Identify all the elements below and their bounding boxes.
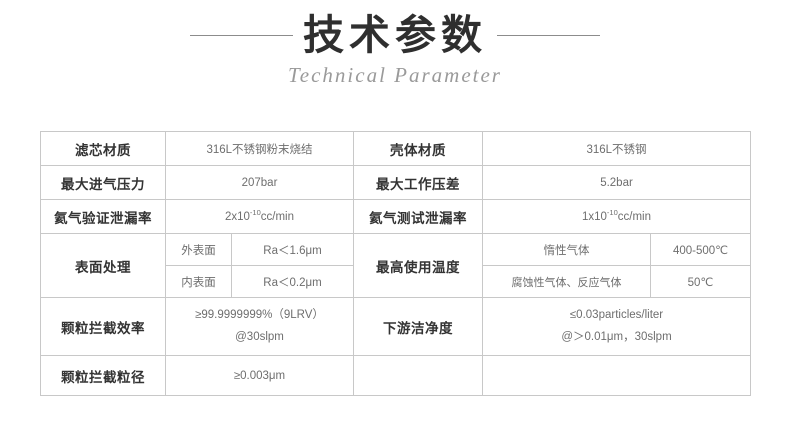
row5-value-left-line2: @30slpm [170,327,349,349]
page-subtitle: Technical Parameter [0,63,790,88]
row3-value-right-base: 1x10 [582,211,607,223]
title-rule-left [190,35,293,36]
row3-value-right-exponent: -10 [607,208,618,217]
row4-label-right: 最高使用温度 [354,234,483,298]
row4-sub-left-b-value: Ra＜0.2μm [232,266,354,298]
row3-value-left-exponent: -10 [250,208,261,217]
technical-parameter-page: 技术参数 Technical Parameter 滤芯材质 316L不锈钢粉末烧… [0,0,790,442]
row2-label-right: 最大工作压差 [354,166,483,200]
page-title: 技术参数 [293,14,497,57]
row2-value-right: 5.2bar [483,166,751,200]
row3-label-left: 氦气验证泄漏率 [41,200,166,234]
row5-label-right: 下游洁净度 [354,298,483,356]
row3-value-right-unit: cc/min [618,211,651,223]
row3-label-right: 氦气测试泄漏率 [354,200,483,234]
row5-value-right-line1: ≤0.03particles/liter [487,305,746,327]
row5-value-left-line1: ≥99.9999999%（9LRV） [170,305,349,327]
row4-sub-right-b-value: 50℃ [651,266,751,298]
row3-value-left-base: 2x10 [225,211,250,223]
table-row: 颗粒拦截粒径 ≥0.003μm [41,356,751,396]
row4-sub-left-a-name: 外表面 [166,234,232,266]
row1-label-left: 滤芯材质 [41,132,166,166]
row1-label-right: 壳体材质 [354,132,483,166]
row5-label-left: 颗粒拦截效率 [41,298,166,356]
row5-value-left: ≥99.9999999%（9LRV） @30slpm [166,298,354,356]
table-row: 颗粒拦截效率 ≥99.9999999%（9LRV） @30slpm 下游洁净度 … [41,298,751,356]
row1-value-left: 316L不锈钢粉末烧结 [166,132,354,166]
row3-value-left: 2x10-10cc/min [166,200,354,234]
row6-value-left: ≥0.003μm [166,356,354,396]
row3-value-left-unit: cc/min [261,211,294,223]
title-rule-right [497,35,600,36]
row6-label-left: 颗粒拦截粒径 [41,356,166,396]
row4-label-left: 表面处理 [41,234,166,298]
row4-sub-right-a-value: 400-500℃ [651,234,751,266]
row6-value-right [483,356,751,396]
table-row: 滤芯材质 316L不锈钢粉末烧结 壳体材质 316L不锈钢 [41,132,751,166]
table-row: 最大进气压力 207bar 最大工作压差 5.2bar [41,166,751,200]
row4-sub-right-b-name: 腐蚀性气体、反应气体 [483,266,651,298]
row2-value-left: 207bar [166,166,354,200]
table-row: 氦气验证泄漏率 2x10-10cc/min 氦气测试泄漏率 1x10-10cc/… [41,200,751,234]
title-row: 技术参数 [0,14,790,57]
row6-label-right [354,356,483,396]
row4-sub-left-a-value: Ra＜1.6μm [232,234,354,266]
row4-sub-left-b-name: 内表面 [166,266,232,298]
row4-sub-right-a-name: 惰性气体 [483,234,651,266]
spec-table: 滤芯材质 316L不锈钢粉末烧结 壳体材质 316L不锈钢 最大进气压力 207… [40,131,751,396]
row1-value-right: 316L不锈钢 [483,132,751,166]
row2-label-left: 最大进气压力 [41,166,166,200]
spec-table-wrapper: 滤芯材质 316L不锈钢粉末烧结 壳体材质 316L不锈钢 最大进气压力 207… [40,131,750,396]
row5-value-right-line2: @＞0.01μm，30slpm [487,327,746,349]
row5-value-right: ≤0.03particles/liter @＞0.01μm，30slpm [483,298,751,356]
table-row: 表面处理 外表面 Ra＜1.6μm 最高使用温度 惰性气体 400-500℃ [41,234,751,266]
row3-value-right: 1x10-10cc/min [483,200,751,234]
page-header: 技术参数 Technical Parameter [0,0,790,88]
